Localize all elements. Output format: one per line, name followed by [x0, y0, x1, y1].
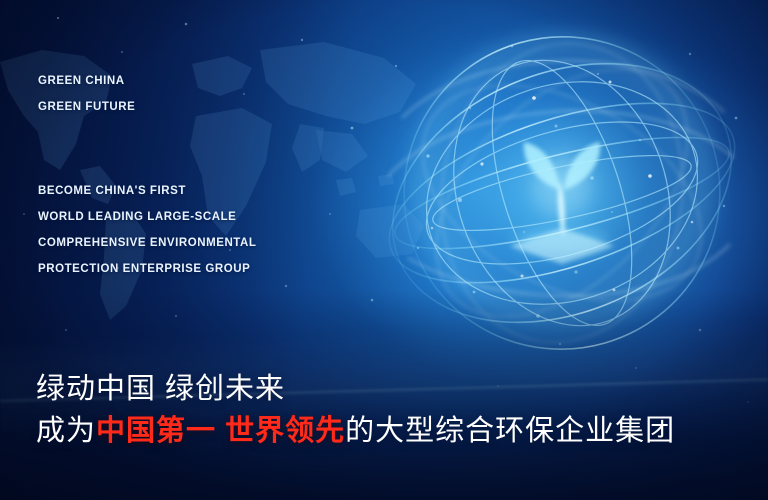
- headline-suffix: 的大型综合环保企业集团: [345, 415, 675, 447]
- english-text-block: GREEN CHINA GREEN FUTURE BECOME CHINA'S …: [38, 68, 256, 282]
- text-spacer: [38, 120, 256, 178]
- hero-banner: GREEN CHINA GREEN FUTURE BECOME CHINA'S …: [0, 0, 768, 500]
- english-mission-line-3: COMPREHENSIVE ENVIRONMENTAL: [38, 230, 256, 256]
- english-tagline-line-1: GREEN CHINA: [38, 68, 256, 94]
- headline-highlight: 中国第一 世界领先: [96, 415, 345, 447]
- english-mission-line-1: BECOME CHINA'S FIRST: [38, 178, 256, 204]
- english-tagline-line-2: GREEN FUTURE: [38, 94, 256, 120]
- chinese-headline-line-1: 绿动中国 绿创未来: [36, 368, 675, 410]
- chinese-headline-block: 绿动中国 绿创未来 成为中国第一 世界领先的大型综合环保企业集团: [36, 368, 675, 452]
- english-mission-line-2: WORLD LEADING LARGE-SCALE: [38, 204, 256, 230]
- chinese-headline-line-2: 成为中国第一 世界领先的大型综合环保企业集团: [36, 410, 675, 452]
- english-mission-line-4: PROTECTION ENTERPRISE GROUP: [38, 256, 256, 282]
- headline-prefix: 成为: [36, 415, 96, 447]
